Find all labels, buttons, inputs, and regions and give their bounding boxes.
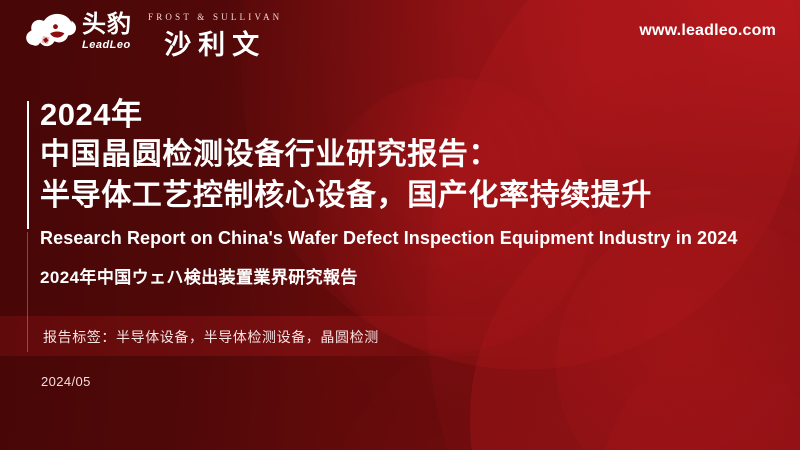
frost-sullivan-en-name: FROST & SULLIVAN — [148, 12, 282, 22]
report-subtitle-english: Research Report on China's Wafer Defect … — [40, 228, 780, 249]
report-tags: 报告标签：半导体设备，半导体检测设备，晶圆检测 — [43, 327, 379, 347]
subtitle-accent-rule — [27, 232, 28, 352]
report-year: 2024年 — [40, 96, 780, 134]
cover-header: 头豹 LeadLeo FROST & SULLIVAN 沙利文 www.lead… — [0, 0, 800, 70]
report-date: 2024/05 — [41, 374, 91, 389]
frost-sullivan-logo[interactable]: FROST & SULLIVAN 沙利文 — [148, 12, 282, 62]
title-accent-rule — [27, 101, 29, 229]
report-title-line-2: 半导体工艺控制核心设备，国产化率持续提升 — [40, 175, 780, 216]
cover-title-block: 2024年 中国晶圆检测设备行业研究报告： 半导体工艺控制核心设备，国产化率持续… — [40, 96, 780, 288]
leadleo-cn-name: 头豹 — [82, 13, 132, 37]
report-cover-slide: 头豹 LeadLeo FROST & SULLIVAN 沙利文 www.lead… — [0, 0, 800, 450]
leadleo-en-name: LeadLeo — [82, 40, 132, 51]
frost-sullivan-cn-name: 沙利文 — [164, 23, 266, 62]
leopard-head-icon — [24, 10, 76, 54]
website-url[interactable]: www.leadleo.com — [639, 22, 776, 40]
leadleo-logo[interactable]: 头豹 LeadLeo — [24, 10, 132, 54]
report-title-line-1: 中国晶圆检测设备行业研究报告： — [40, 134, 780, 175]
report-subtitle-japanese: 2024年中国ウェハ検出装置業界研究報告 — [40, 263, 780, 288]
